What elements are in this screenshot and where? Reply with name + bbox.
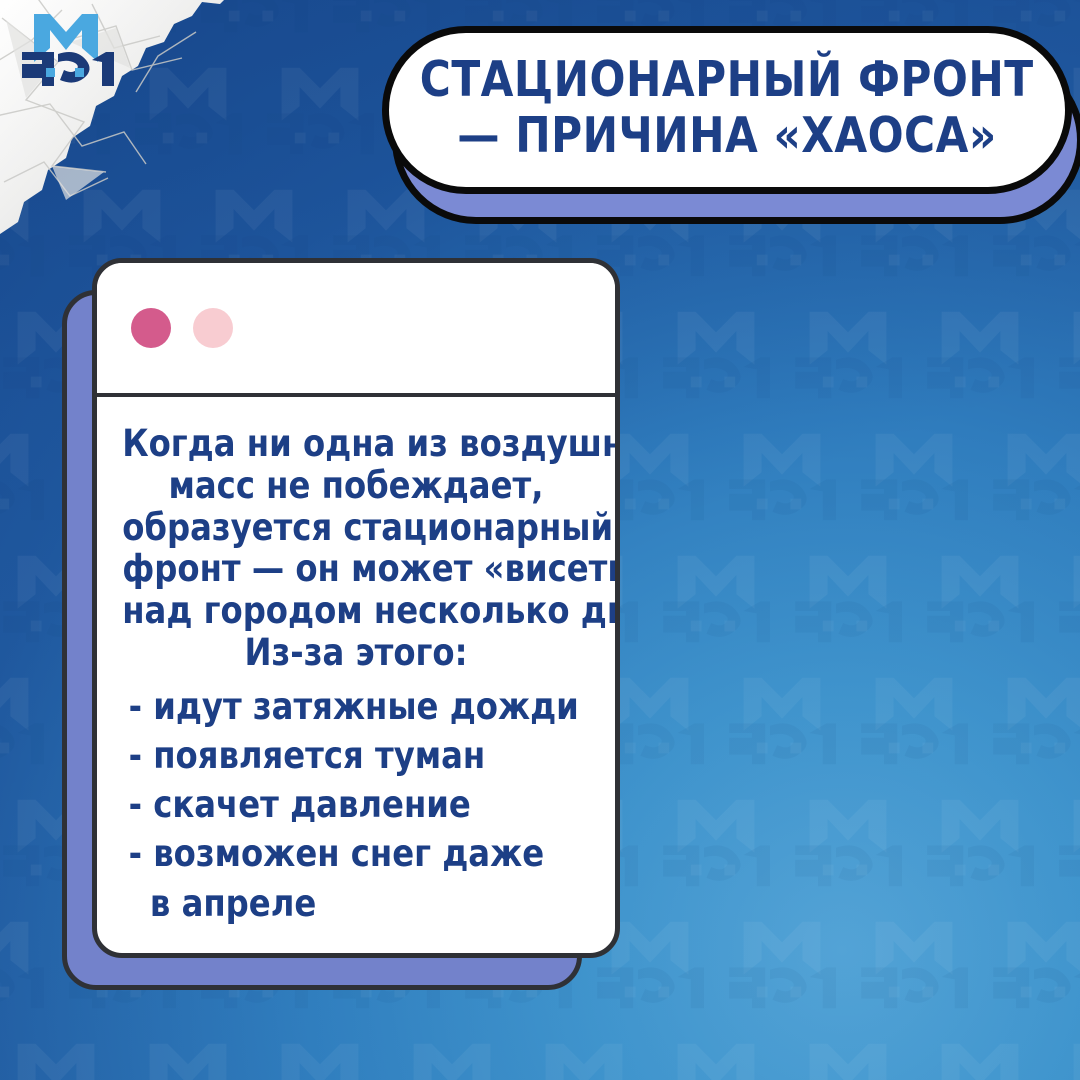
watermark-mark <box>0 428 50 538</box>
body-bullet-list: - идут затяжные дожди- появляется туман-… <box>115 682 583 928</box>
paragraph-line-5: над городом несколько дней. <box>122 590 590 632</box>
window-titlebar <box>97 263 615 397</box>
watermark-mark <box>0 672 50 782</box>
window-dot-pink[interactable] <box>131 308 171 348</box>
content-card-window: Когда ни одна из воздушныхмасс не побежд… <box>92 258 620 958</box>
watermark-mark <box>656 306 776 416</box>
bullet-item-3: - скачет давление <box>129 780 583 829</box>
watermark-mark <box>656 550 776 660</box>
paragraph-line-3: образуется стационарный <box>122 507 590 549</box>
body-paragraph: Когда ни одна из воздушныхмасс не побежд… <box>122 423 590 674</box>
watermark-mark <box>524 1038 644 1080</box>
window-body: Когда ни одна из воздушныхмасс не побежд… <box>97 397 615 953</box>
paragraph-line-2: масс не побеждает, <box>122 465 590 507</box>
watermark-mark <box>854 428 974 538</box>
watermark-mark <box>1052 794 1080 904</box>
watermark-mark <box>788 306 908 416</box>
watermark-mark <box>788 794 908 904</box>
watermark-mark <box>392 1038 512 1080</box>
window-dot-light-pink[interactable] <box>193 308 233 348</box>
watermark-mark <box>128 62 248 172</box>
watermark-mark <box>788 1038 908 1080</box>
watermark-mark <box>1052 306 1080 416</box>
watermark-mark <box>854 672 974 782</box>
paragraph-line-1: Когда ни одна из воздушных <box>122 423 590 465</box>
watermark-mark <box>788 550 908 660</box>
watermark-mark <box>1052 550 1080 660</box>
watermark-mark <box>128 1038 248 1080</box>
title-banner: СТАЦИОНАРНЫЙ ФРОНТ — ПРИЧИНА «ХАОСА» <box>382 26 1080 226</box>
watermark-mark <box>722 916 842 1026</box>
watermark-mark <box>920 306 1040 416</box>
bullet-item-4: - возможен снег даже <box>129 829 583 878</box>
content-card: Когда ни одна из воздушныхмасс не побежд… <box>62 258 622 998</box>
watermark-mark <box>920 550 1040 660</box>
watermark-mark <box>920 794 1040 904</box>
watermark-mark <box>854 916 974 1026</box>
watermark-mark <box>194 0 314 50</box>
bullet-item-5: в апреле <box>129 879 583 928</box>
paragraph-line-6: Из-за этого: <box>122 632 590 674</box>
watermark-mark <box>656 1038 776 1080</box>
watermark-mark <box>1052 1038 1080 1080</box>
bullet-item-1: - идут затяжные дожди <box>129 682 583 731</box>
watermark-mark <box>986 916 1080 1026</box>
poster-canvas: СТАЦИОНАРНЫЙ ФРОНТ — ПРИЧИНА «ХАОСА» Ког… <box>0 0 1080 1080</box>
paragraph-line-4: фронт — он может «висеть» <box>122 548 590 590</box>
watermark-mark <box>656 794 776 904</box>
title-banner-pill: СТАЦИОНАРНЫЙ ФРОНТ — ПРИЧИНА «ХАОСА» <box>382 26 1072 194</box>
watermark-mark <box>986 428 1080 538</box>
title-line-2: — ПРИЧИНА «ХАОСА» <box>457 111 996 161</box>
watermark-mark <box>0 916 50 1026</box>
watermark-mark <box>920 1038 1040 1080</box>
bullet-item-2: - появляется туман <box>129 731 583 780</box>
watermark-mark <box>260 62 380 172</box>
watermark-mark <box>986 672 1080 782</box>
watermark-mark <box>260 1038 380 1080</box>
watermark-mark <box>722 672 842 782</box>
watermark-mark <box>722 428 842 538</box>
watermark-mark <box>0 184 50 294</box>
title-line-1: СТАЦИОНАРНЫЙ ФРОНТ <box>420 55 1034 105</box>
m491-logo <box>18 8 118 92</box>
watermark-mark <box>0 1038 116 1080</box>
